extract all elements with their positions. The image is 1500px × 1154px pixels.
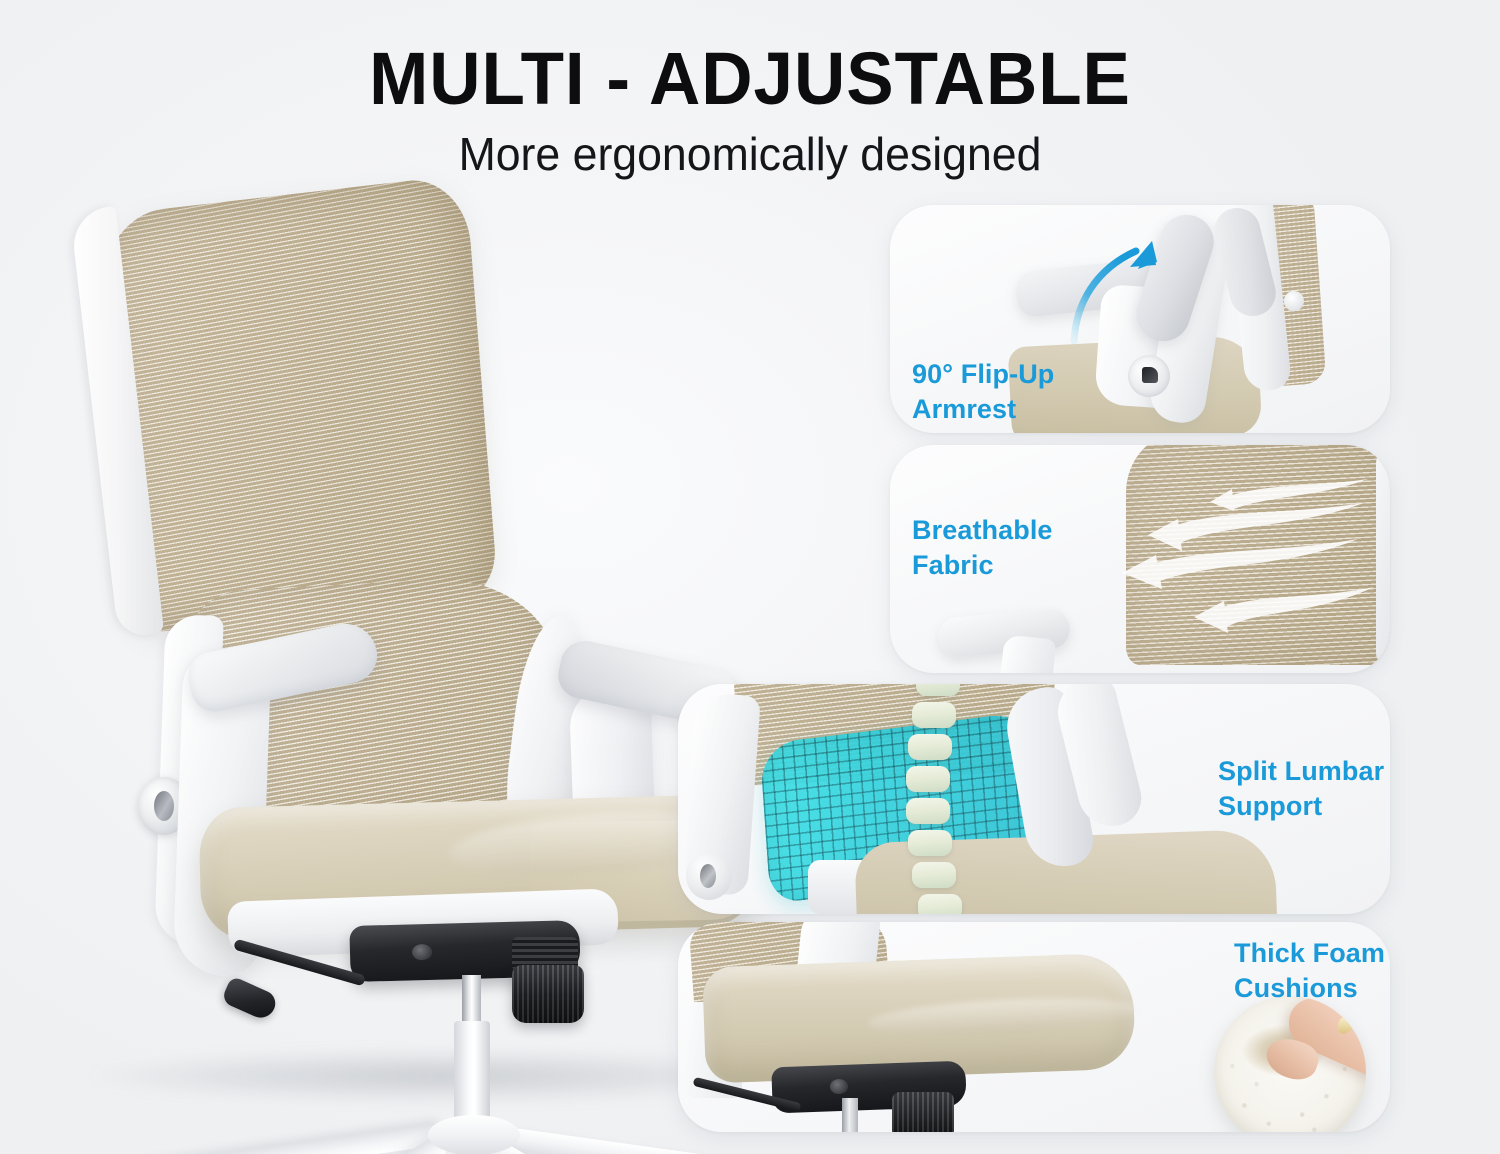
feature-label-flip-up-armrest: 90° Flip-Up Armrest (912, 357, 1054, 426)
feature-panel-flip-up-armrest: 90° Flip-Up Armrest (890, 205, 1390, 433)
feature-label-thick-foam-cushions: Thick Foam Cushions (1234, 936, 1385, 1005)
page-title: MULTI - ADJUSTABLE (30, 42, 1470, 116)
spine-segment (912, 862, 956, 888)
infographic-canvas: MULTI - ADJUSTABLE More ergonomically de… (0, 0, 1500, 1154)
header: MULTI - ADJUSTABLE More ergonomically de… (0, 42, 1500, 178)
spine-segment (912, 702, 956, 728)
foam-press-inset (1214, 996, 1366, 1132)
spine-segment (906, 766, 950, 792)
panel1-pivot-hinge (1128, 355, 1170, 397)
spine-segment (918, 894, 962, 914)
panel3-hinge-knob (686, 852, 732, 900)
spine-segment (908, 734, 952, 760)
panel4-gas-cylinder (842, 1098, 858, 1132)
flip-up-arrow-icon (1060, 229, 1210, 349)
feature-label-split-lumbar-support: Split Lumbar Support (1218, 754, 1384, 823)
panel4-tension-knob (892, 1092, 954, 1132)
spine-segment (908, 830, 952, 856)
page-subtitle: More ergonomically designed (23, 130, 1478, 178)
spine-segments-group (900, 684, 944, 914)
panel1-release-button (1284, 291, 1304, 311)
feature-panel-thick-foam-cushions: Thick Foam Cushions (678, 922, 1390, 1132)
feature-panel-breathable-fabric: Breathable Fabric (890, 445, 1390, 673)
feature-label-breathable-fabric: Breathable Fabric (912, 513, 1053, 582)
panel2-armrest-post (1000, 634, 1057, 673)
spine-segment (906, 798, 950, 824)
spine-segment (916, 684, 960, 696)
feature-panel-split-lumbar-support: Split Lumbar Support (678, 684, 1390, 914)
airflow-arrows-icon (1106, 461, 1390, 661)
